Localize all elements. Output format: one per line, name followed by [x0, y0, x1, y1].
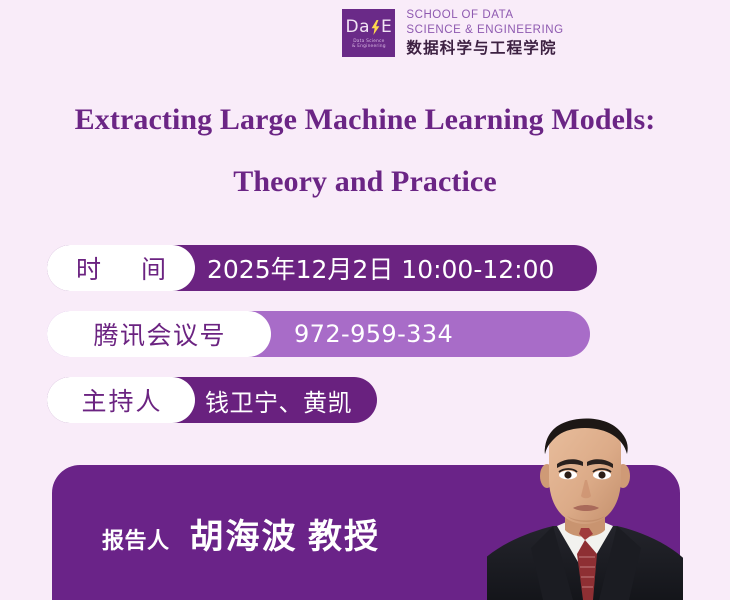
- info-value-time: 2025年12月2日 10:00-12:00: [207, 250, 554, 286]
- school-name-block: SCHOOL OF DATA SCIENCE & ENGINEERING 数据科…: [406, 8, 563, 59]
- talk-title-line1: Extracting Large Machine Learning Models…: [0, 104, 730, 136]
- school-name-cn: 数据科学与工程学院: [406, 38, 563, 58]
- info-row-host: 主持人 钱卫宁、黄凯: [47, 377, 377, 423]
- speaker-portrait: [487, 398, 683, 600]
- school-name-en-line2: SCIENCE & ENGINEERING: [406, 23, 563, 38]
- info-row-time: 时 间 2025年12月2日 10:00-12:00: [47, 245, 597, 291]
- info-label-meeting-id: 腾讯会议号: [47, 311, 271, 357]
- info-label-host: 主持人: [47, 377, 195, 423]
- logo-letters-left: Da: [345, 19, 370, 36]
- logo-subtext-line2: & Engineering: [352, 44, 386, 50]
- talk-title: Extracting Large Machine Learning Models…: [0, 104, 730, 198]
- info-value-meeting-id: 972-959-334: [294, 320, 453, 348]
- poster-root: Da E Data Science & Engineering SCHOOL O…: [0, 0, 730, 600]
- talk-title-line2: Theory and Practice: [0, 166, 730, 198]
- info-label-time: 时 间: [47, 245, 195, 291]
- lightning-bolt-icon: [371, 20, 380, 35]
- brand-header: Da E Data Science & Engineering SCHOOL O…: [0, 8, 730, 68]
- logo-letters-right: E: [381, 19, 392, 36]
- info-row-meeting-id: 腾讯会议号 972-959-334: [47, 311, 590, 357]
- speaker-role-label: 报告人: [102, 523, 170, 555]
- dase-logo: Da E Data Science & Engineering: [342, 9, 395, 57]
- speaker-line: 报告人 胡海波 教授: [102, 509, 380, 558]
- speaker-name: 胡海波 教授: [190, 509, 381, 558]
- school-name-en-line1: SCHOOL OF DATA: [406, 8, 563, 23]
- logo-lettermark: Da E: [345, 19, 392, 36]
- info-value-host: 钱卫宁、黄凯: [205, 383, 352, 418]
- logo-subtext: Data Science & Engineering: [352, 39, 386, 50]
